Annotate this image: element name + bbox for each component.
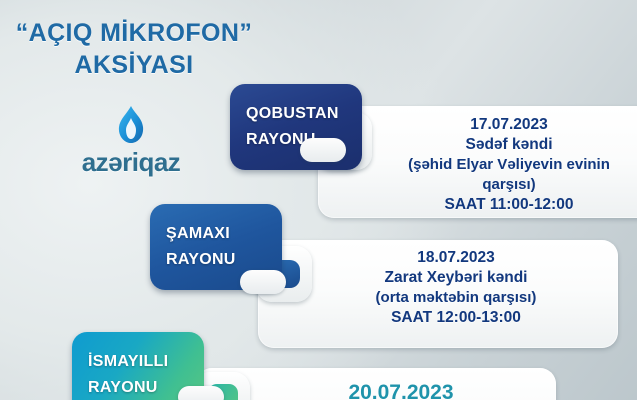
detail-date-2: 18.07.2023 <box>294 248 618 268</box>
region-card-qobustan: QOBUSTAN RAYONU <box>230 84 362 170</box>
detail-place-1: Sədəf kəndi <box>360 135 637 155</box>
region-line2-1: RAYONU <box>246 127 362 153</box>
detail-text-3: 20.07.2023 <box>196 368 556 400</box>
detail-time-1: SAAT 11:00-12:00 <box>360 195 637 215</box>
detail-panel-2: 18.07.2023 Zarat Xeybəri kəndi (orta mək… <box>258 240 618 348</box>
poster-canvas: “AÇIQ MİKROFON” AKSİYASI azəriqaz 17.07.… <box>0 0 637 400</box>
detail-note2-1: qarşısı) <box>360 175 637 195</box>
region-line2-2: RAYONU <box>166 247 282 273</box>
region-label-2: ŞAMAXI RAYONU <box>150 204 282 273</box>
region-label-3: İSMAYILLI RAYONU <box>72 332 204 400</box>
flame-icon <box>114 105 148 145</box>
page-title: “AÇIQ MİKROFON” AKSİYASI <box>0 18 268 80</box>
region-card-ismayilli: İSMAYILLI RAYONU <box>72 332 204 400</box>
region-line1-2: ŞAMAXI <box>166 221 282 247</box>
brand-logo: azəriqaz <box>36 105 226 178</box>
region-label-1: QOBUSTAN RAYONU <box>230 84 362 153</box>
detail-note-2: (orta məktəbin qarşısı) <box>294 288 618 308</box>
brand-name: azəriqaz <box>36 147 226 178</box>
region-line1-1: QOBUSTAN <box>246 101 362 127</box>
detail-text-1: 17.07.2023 Sədəf kəndi (şəhid Elyar Vəli… <box>318 106 637 215</box>
detail-panel-3: 20.07.2023 <box>196 368 556 400</box>
region-line2-3: RAYONU <box>88 375 204 400</box>
region-line1-3: İSMAYILLI <box>88 349 204 375</box>
detail-panel-1: 17.07.2023 Sədəf kəndi (şəhid Elyar Vəli… <box>318 106 637 218</box>
detail-date-3: 20.07.2023 <box>246 380 556 400</box>
detail-note-1: (şəhid Elyar Vəliyevin evinin <box>360 155 637 175</box>
detail-date-1: 17.07.2023 <box>360 115 637 135</box>
detail-place-2: Zarat Xeybəri kəndi <box>294 268 618 288</box>
detail-text-2: 18.07.2023 Zarat Xeybəri kəndi (orta mək… <box>258 240 618 328</box>
region-card-samaxi: ŞAMAXI RAYONU <box>150 204 282 290</box>
detail-time-2: SAAT 12:00-13:00 <box>294 308 618 328</box>
title-line-2: AKSİYASI <box>0 50 268 80</box>
title-line-1: “AÇIQ MİKROFON” <box>0 18 268 48</box>
